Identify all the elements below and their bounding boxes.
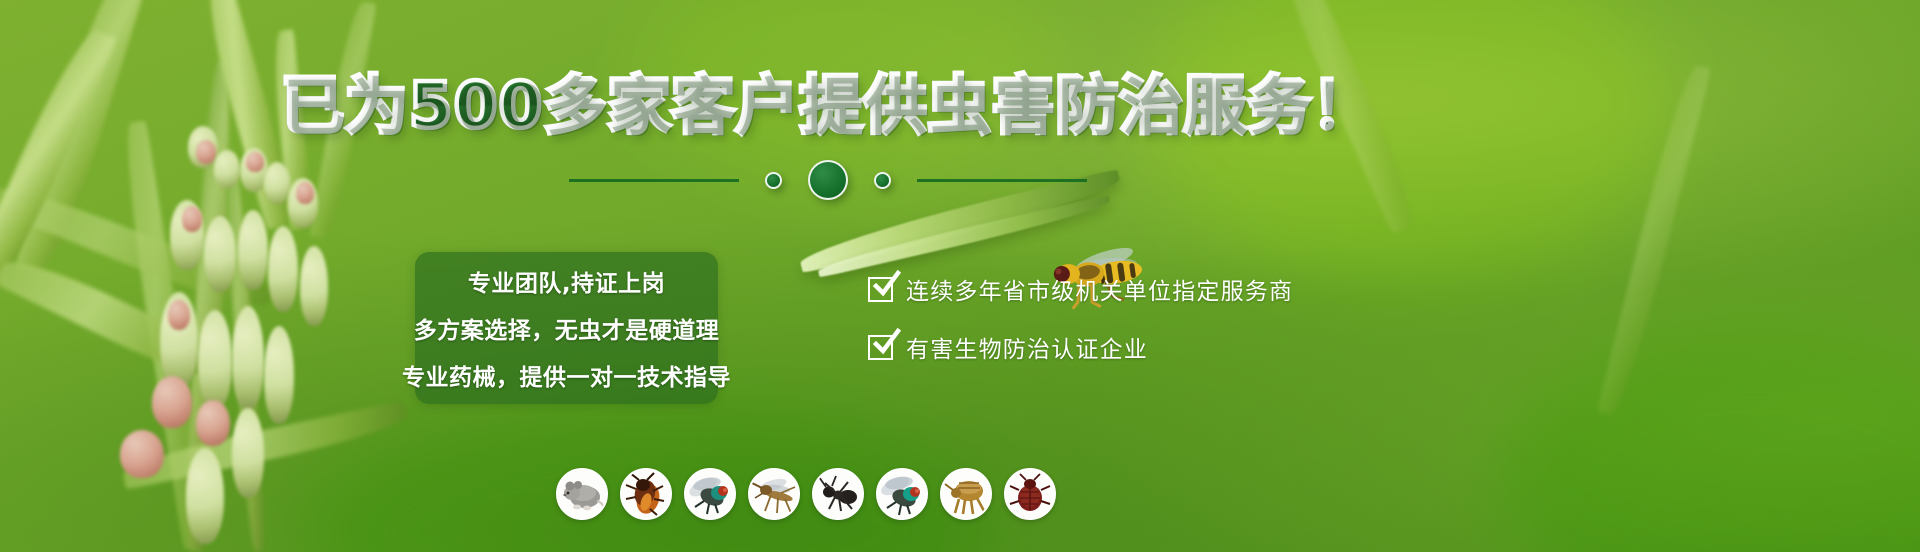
housefly-icon[interactable] <box>684 468 736 520</box>
ant-icon[interactable] <box>812 468 864 520</box>
credential-label: 连续多年省市级机关单位指定服务商 <box>906 272 1293 306</box>
mosquito-icon[interactable] <box>748 468 800 520</box>
cockroach-icon[interactable] <box>620 468 672 520</box>
credentials-list: 连续多年省市级机关单位指定服务商 有害生物防治认证企业 <box>868 272 1293 364</box>
divider-dot-small-left <box>765 172 782 189</box>
divider-dot-small-right <box>874 172 891 189</box>
divider-line-left <box>569 179 739 182</box>
checkbox-check-icon <box>868 277 893 302</box>
selling-point-line-1: 专业团队,持证上岗 <box>468 264 665 298</box>
divider-dot-large <box>808 160 848 200</box>
credential-label: 有害生物防治认证企业 <box>906 330 1148 364</box>
bedbug-icon[interactable] <box>1004 468 1056 520</box>
decorative-divider <box>0 160 1788 200</box>
promo-banner: 已为500多家客户提供虫害防治服务！ 专业团队,持证上岗 多方案选择，无虫才是硬… <box>0 0 1920 552</box>
rodent-icon[interactable] <box>556 468 608 520</box>
selling-point-line-2: 多方案选择，无虫才是硬道理 <box>414 311 720 345</box>
checkbox-check-icon <box>868 335 893 360</box>
list-item: 有害生物防治认证企业 <box>868 330 1293 364</box>
headline-text: 已为500多家客户提供虫害防治服务！ <box>281 69 1376 142</box>
selling-points-panel: 专业团队,持证上岗 多方案选择，无虫才是硬道理 专业药械，提供一对一技术指导 <box>415 252 718 404</box>
list-item: 连续多年省市级机关单位指定服务商 <box>868 272 1293 306</box>
pest-icon-strip <box>556 468 1056 520</box>
greenfly-icon[interactable] <box>876 468 928 520</box>
selling-point-line-3: 专业药械，提供一对一技术指导 <box>402 358 731 392</box>
page-title: 已为500多家客户提供虫害防治服务！ <box>0 74 1788 137</box>
flea-icon[interactable] <box>940 468 992 520</box>
divider-line-right <box>917 179 1087 182</box>
